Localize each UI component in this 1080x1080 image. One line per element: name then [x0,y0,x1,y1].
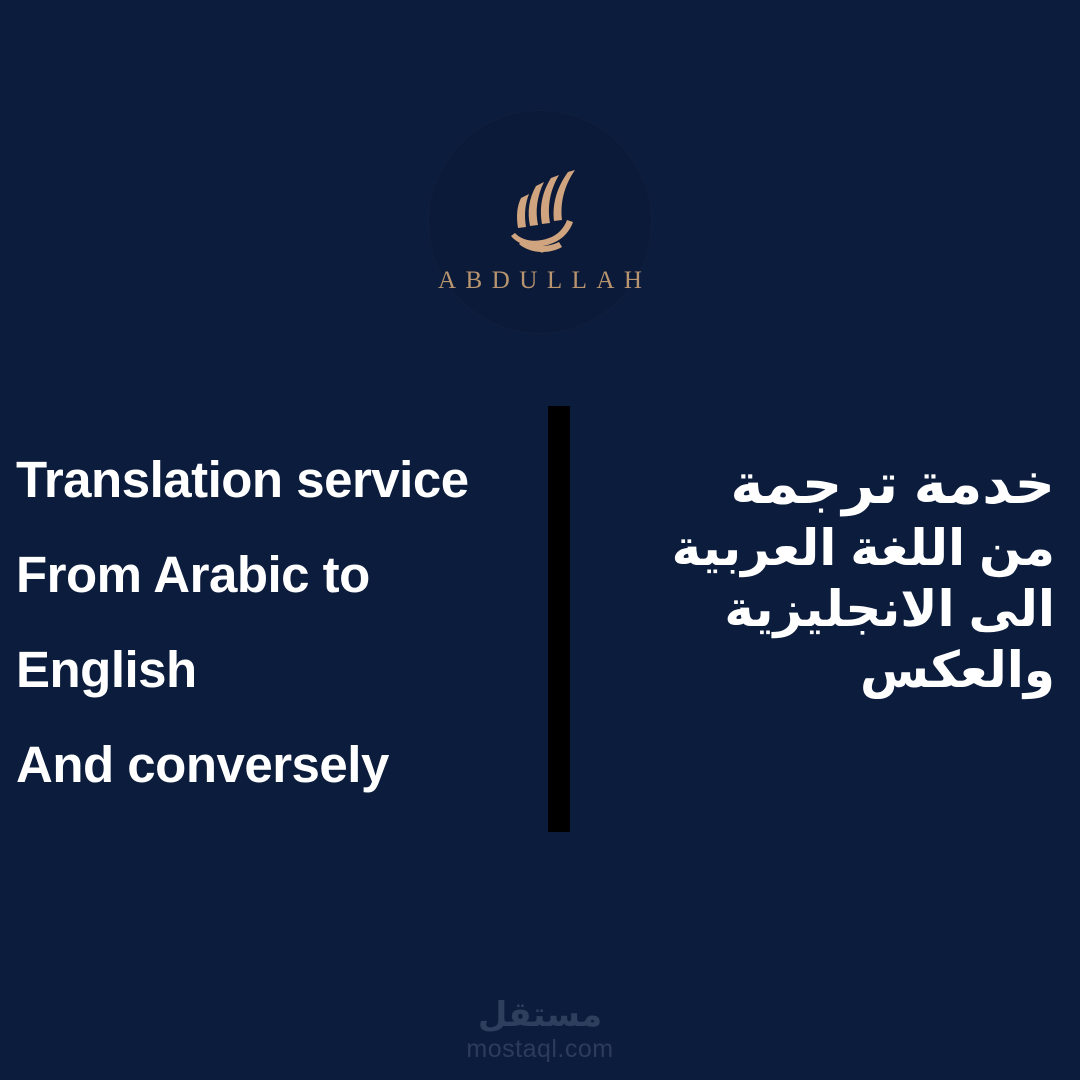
brand-logo-badge: ABDULLAH [428,110,652,334]
mostaql-logotype-icon: مستقل [478,998,602,1032]
arabic-headline-line: خدمة ترجمة [585,450,1055,518]
arabic-headline: خدمة ترجمة من اللغة العربية الى الانجليز… [585,450,1055,701]
arabic-headline-line: الى الانجليزية [585,579,1055,640]
poster-canvas: ABDULLAH Translation service From Arabic… [0,0,1080,1080]
arabic-headline-line: والعكس [585,640,1055,701]
vertical-divider [548,406,570,832]
arabic-headline-line: من اللغة العربية [585,518,1055,579]
arabic-calligraphy-abdullah-icon [485,158,595,258]
english-headline-line: Translation service [16,432,536,527]
mostaql-domain-label: mostaql.com [466,1037,613,1062]
mostaql-watermark: مستقل mostaql.com [0,998,1080,1062]
english-headline: Translation service From Arabic to Engli… [16,432,536,812]
english-headline-line: From Arabic to [16,527,536,622]
english-headline-line: English [16,622,536,717]
english-headline-line: And conversely [16,717,536,812]
brand-wordmark: ABDULLAH [429,268,652,293]
